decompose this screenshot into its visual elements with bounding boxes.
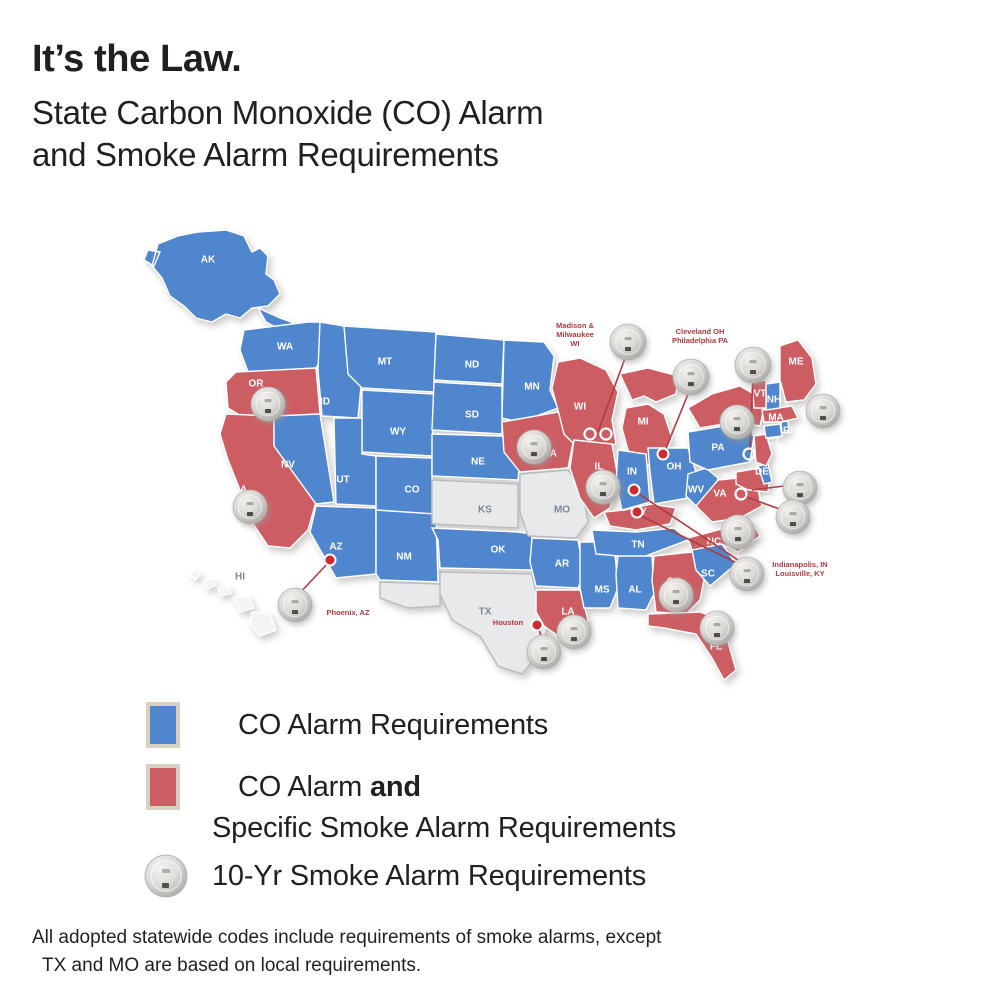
legend-label-and-bold: and xyxy=(370,771,421,803)
annotation-madison-milwaukee-wi: Madison &MilwaukeeWI xyxy=(556,321,595,348)
state-HI[interactable] xyxy=(190,570,276,636)
state-label-NC: NC xyxy=(707,537,721,548)
state-label-CT: CT xyxy=(767,437,780,448)
detector-ca[interactable] xyxy=(233,490,267,524)
state-label-MT: MT xyxy=(378,357,392,368)
legend-item-co-and-smoke[interactable]: CO Alarm and xyxy=(146,764,421,810)
state-label-HI: HI xyxy=(235,572,245,583)
city-houston-tx[interactable] xyxy=(532,620,543,631)
state-KS[interactable] xyxy=(432,480,518,528)
legend-item-specific-smoke: Specific Smoke Alarm Requirements xyxy=(212,812,676,845)
legend-label-co-alarm: CO Alarm Requirements xyxy=(238,709,548,742)
subtitle-line-1: State Carbon Monoxide (CO) Alarm xyxy=(32,92,912,134)
state-AL[interactable] xyxy=(616,556,654,610)
city-indianapolis-in[interactable] xyxy=(629,485,640,496)
state-label-NM: NM xyxy=(396,552,412,563)
annotation-phoenix-az: Phoenix, AZ xyxy=(326,608,369,617)
detector-md[interactable] xyxy=(776,500,810,534)
header: It’s the Law. State Carbon Monoxide (CO)… xyxy=(32,40,912,176)
state-label-AK: AK xyxy=(201,255,216,266)
detector-ga[interactable] xyxy=(659,578,693,612)
state-label-MO: MO xyxy=(554,505,570,516)
detector-phoenix[interactable] xyxy=(278,588,312,622)
city-louisville-ky[interactable] xyxy=(632,507,643,518)
annotation-cleveland-philadelphia: Cleveland OHPhiladelphia PA xyxy=(672,327,729,345)
detector-ia[interactable] xyxy=(517,430,551,464)
legend-swatch-red xyxy=(146,764,180,810)
state-label-DE: DE xyxy=(755,467,769,478)
detector-fl[interactable] xyxy=(700,611,734,645)
footnote: All adopted statewide codes include requ… xyxy=(32,924,952,979)
legend-label-specific-smoke: Specific Smoke Alarm Requirements xyxy=(212,812,676,845)
legend-label-co-alarm-pre: CO Alarm xyxy=(238,771,370,803)
detector-indy-callout[interactable] xyxy=(730,557,764,591)
city-cleveland-oh[interactable] xyxy=(658,449,669,460)
detector-pa-callout[interactable] xyxy=(735,347,771,383)
state-label-PA: PA xyxy=(711,443,724,454)
state-label-WV: WV xyxy=(688,485,704,496)
state-label-VA: VA xyxy=(713,489,726,500)
state-SD[interactable] xyxy=(432,382,502,434)
detector-wi-callout[interactable] xyxy=(610,324,646,360)
state-label-NJ: NJ xyxy=(784,457,797,468)
detector-nj[interactable] xyxy=(783,471,817,505)
state-label-OK: OK xyxy=(491,545,507,556)
state-AZ[interactable] xyxy=(310,506,376,578)
state-label-NV: NV xyxy=(281,460,295,471)
detector-houston[interactable] xyxy=(527,635,561,669)
detector-ma[interactable] xyxy=(806,394,840,428)
legend-label-ten-yr-smoke: 10-Yr Smoke Alarm Requirements xyxy=(212,860,646,893)
subtitle-line-2: and Smoke Alarm Requirements xyxy=(32,134,912,176)
detector-nc[interactable] xyxy=(721,515,755,549)
state-label-IN: IN xyxy=(627,467,637,478)
state-label-TX: TX xyxy=(479,607,492,618)
state-label-MN: MN xyxy=(524,382,540,393)
us-map: AKHIWAORCANVIDMTWYUTCOAZNMNDSDNEKSOKTXMN… xyxy=(140,222,880,702)
annotation-indianapolis-louisville: Indianapolis, INLouisville, KY xyxy=(772,560,827,578)
state-label-ND: ND xyxy=(465,360,479,371)
detector-ny[interactable] xyxy=(720,405,754,439)
state-label-NE: NE xyxy=(471,457,485,468)
state-label-WI: WI xyxy=(574,402,586,413)
state-label-SD: SD xyxy=(465,410,479,421)
legend-swatch-blue xyxy=(146,702,180,748)
state-label-TN: TN xyxy=(631,540,644,551)
detector-oh-callout[interactable] xyxy=(673,359,709,395)
state-WY[interactable] xyxy=(362,390,434,456)
legend-item-ten-yr-smoke[interactable]: 10-Yr Smoke Alarm Requirements xyxy=(142,852,646,900)
state-label-CO: CO xyxy=(405,485,420,496)
smoke-detector-icon-svg xyxy=(142,852,190,900)
footnote-line-1: All adopted statewide codes include requ… xyxy=(32,924,952,952)
state-ME[interactable] xyxy=(780,340,816,402)
state-label-SC: SC xyxy=(701,569,715,580)
annotation-houston-tx: Houston xyxy=(493,618,524,627)
map-svg: AKHIWAORCANVIDMTWYUTCOAZNMNDSDNEKSOKTXMN… xyxy=(140,222,880,702)
page-title: It’s the Law. xyxy=(32,40,912,78)
state-label-UT: UT xyxy=(336,475,349,486)
city-phoenix-az[interactable] xyxy=(325,555,336,566)
state-OK[interactable] xyxy=(432,528,532,570)
state-label-ID: ID xyxy=(320,397,330,408)
state-label-MI: MI xyxy=(637,417,648,428)
state-label-WY: WY xyxy=(390,427,406,438)
state-label-AL: AL xyxy=(628,585,641,596)
detector-il[interactable] xyxy=(586,470,620,504)
state-label-OH: OH xyxy=(667,462,682,473)
state-label-AZ: AZ xyxy=(329,542,342,553)
state-label-ME: ME xyxy=(789,357,804,368)
infographic-page: It’s the Law. State Carbon Monoxide (CO)… xyxy=(0,0,1000,1000)
state-label-WA: WA xyxy=(277,342,293,353)
legend-item-co-alarm[interactable]: CO Alarm Requirements xyxy=(146,702,548,748)
state-label-NH: NH xyxy=(767,395,781,406)
state-label-AR: AR xyxy=(555,559,570,570)
smoke-detector-icon xyxy=(142,852,190,900)
state-label-MA: MA xyxy=(768,413,784,424)
state-label-RI: RI xyxy=(783,426,793,437)
state-NM[interactable] xyxy=(376,510,438,582)
detector-or[interactable] xyxy=(251,387,285,421)
state-label-KS: KS xyxy=(478,505,492,516)
state-label-MS: MS xyxy=(595,585,610,596)
footnote-line-2: TX and MO are based on local requirement… xyxy=(32,952,952,980)
legend-label-co-and-smoke-line1: CO Alarm and xyxy=(238,771,421,804)
state-IN[interactable] xyxy=(616,450,650,510)
state-TX[interactable] xyxy=(380,572,550,674)
state-label-VT: VT xyxy=(754,389,767,400)
detector-la[interactable] xyxy=(557,615,591,649)
